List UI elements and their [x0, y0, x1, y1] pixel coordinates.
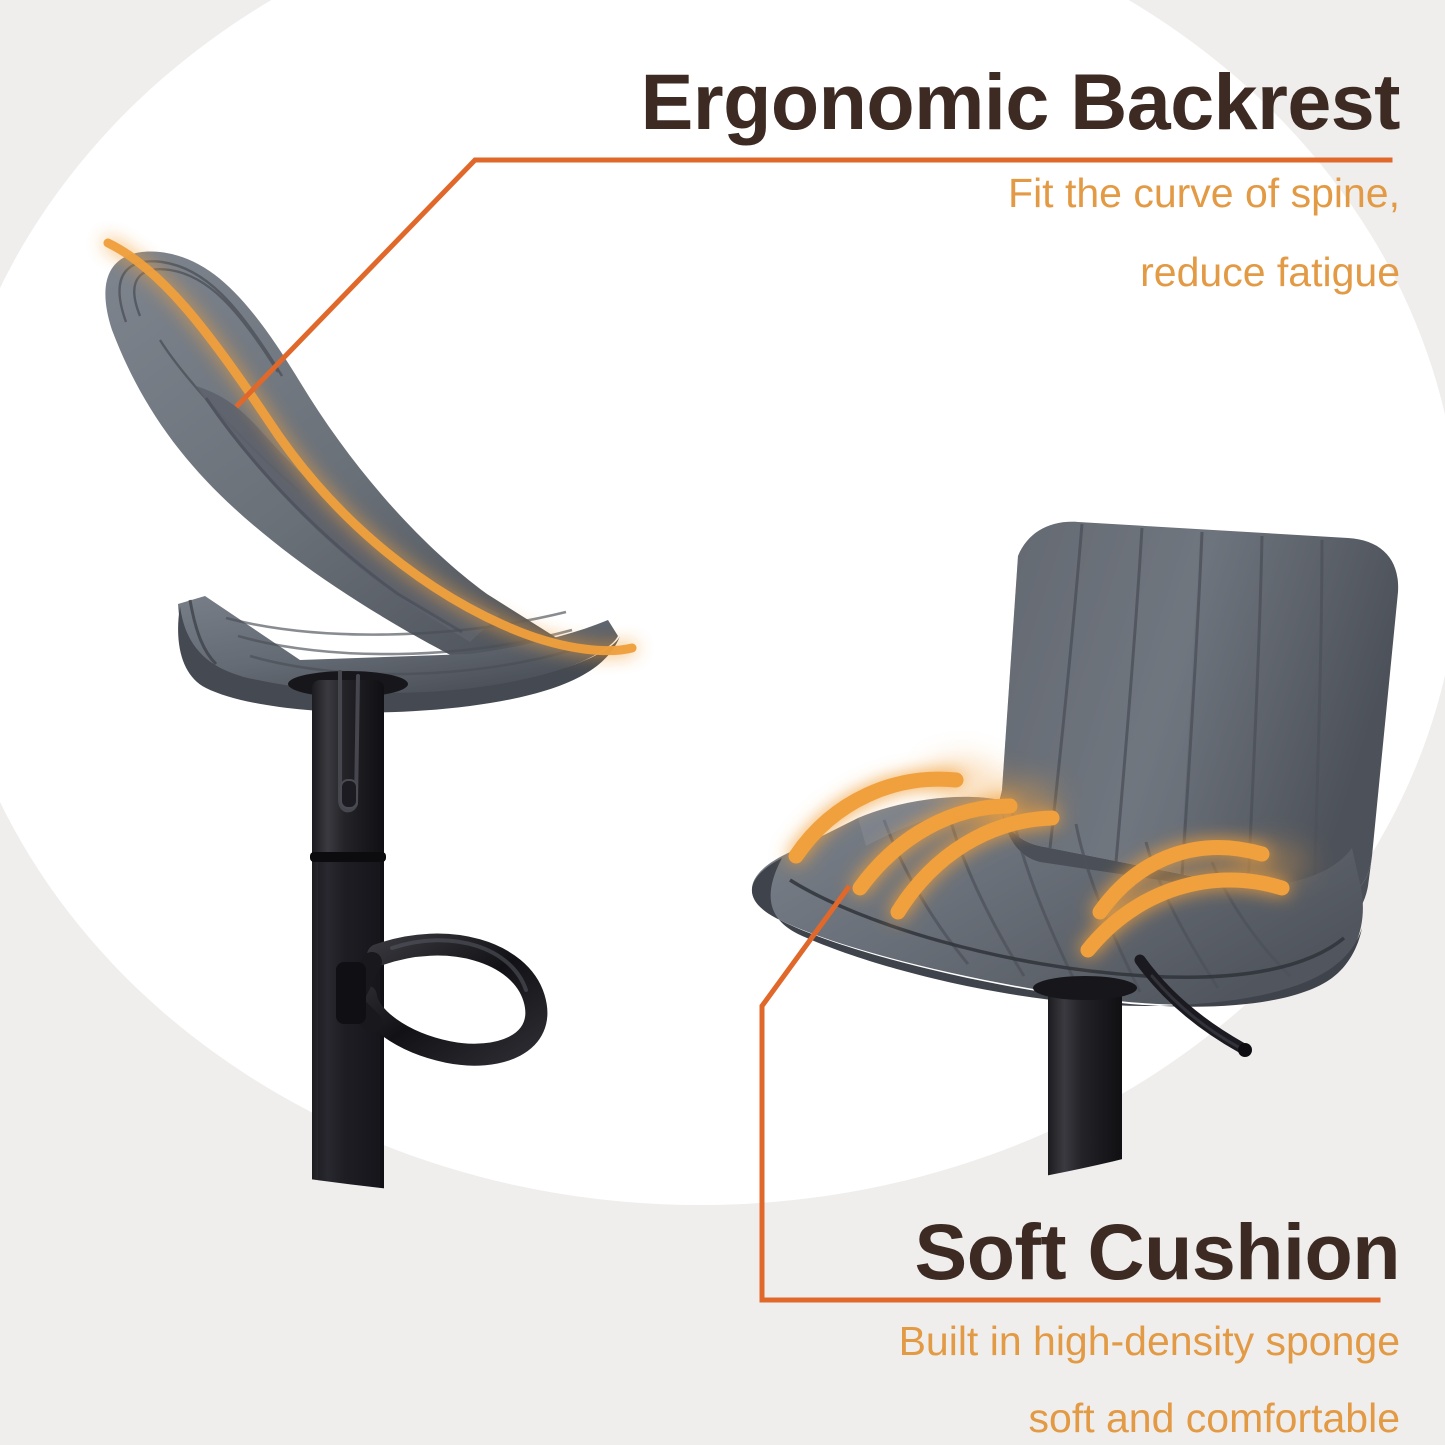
- callout-ergonomic-backrest: Ergonomic Backrest Fit the curve of spin…: [470, 62, 1400, 300]
- callout-subtext-soft-cushion-line1: Built in high-density sponge: [800, 1315, 1400, 1368]
- product-infographic: Ergonomic Backrest Fit the curve of spin…: [0, 0, 1445, 1445]
- callout-heading-ergonomic-backrest: Ergonomic Backrest: [470, 62, 1400, 141]
- callout-heading-soft-cushion: Soft Cushion: [800, 1212, 1400, 1291]
- callout-subtext-ergonomic-backrest-line1: Fit the curve of spine,: [470, 167, 1400, 220]
- callout-subtext-ergonomic-backrest-line2: reduce fatigue: [470, 246, 1400, 299]
- callout-soft-cushion: Soft Cushion Built in high-density spong…: [800, 1212, 1400, 1445]
- callout-subtext-soft-cushion-line2: soft and comfortable: [800, 1392, 1400, 1445]
